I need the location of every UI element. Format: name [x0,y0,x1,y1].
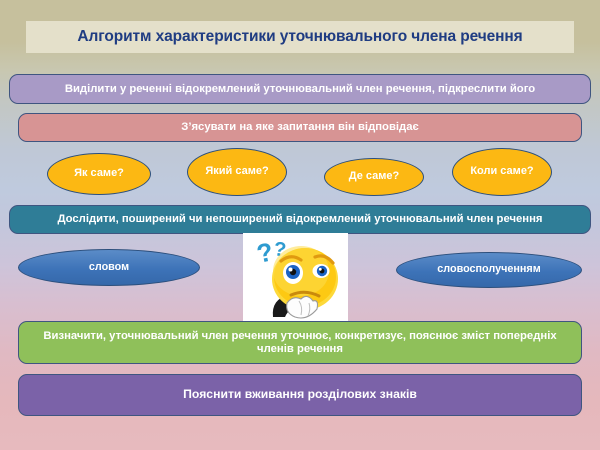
step-bar-explain: Пояснити вживання розділових знаків [18,374,582,416]
slide-title-band: Алгоритм характеристики уточнювального ч… [26,21,574,53]
slide-canvas: Алгоритм характеристики уточнювального ч… [0,0,600,450]
step-bar-select: Виділити у реченні відокремлений уточнюв… [9,74,591,104]
answer-oval-slovospoluchennyam: словосполученням [396,252,582,288]
question-oval-de: Де саме? [324,158,424,196]
step-bar-define: Визначити, уточнювальний член речення ут… [18,321,582,364]
question-oval-yak: Як саме? [47,153,151,195]
page-title: Алгоритм характеристики уточнювального ч… [77,28,522,46]
question-oval-koly: Коли саме? [452,148,552,196]
thinking-smiley-image: ? ? [243,233,348,325]
answer-oval-slovom: словом [18,249,200,286]
step-bar-research: Дослідити, поширений чи непоширений відо… [9,205,591,234]
step-bar-question: З’ясувати на яке запитання він відповіда… [18,113,582,142]
question-oval-yakyi: Який саме? [187,148,287,196]
thinking-smiley-icon: ? ? [243,233,348,325]
